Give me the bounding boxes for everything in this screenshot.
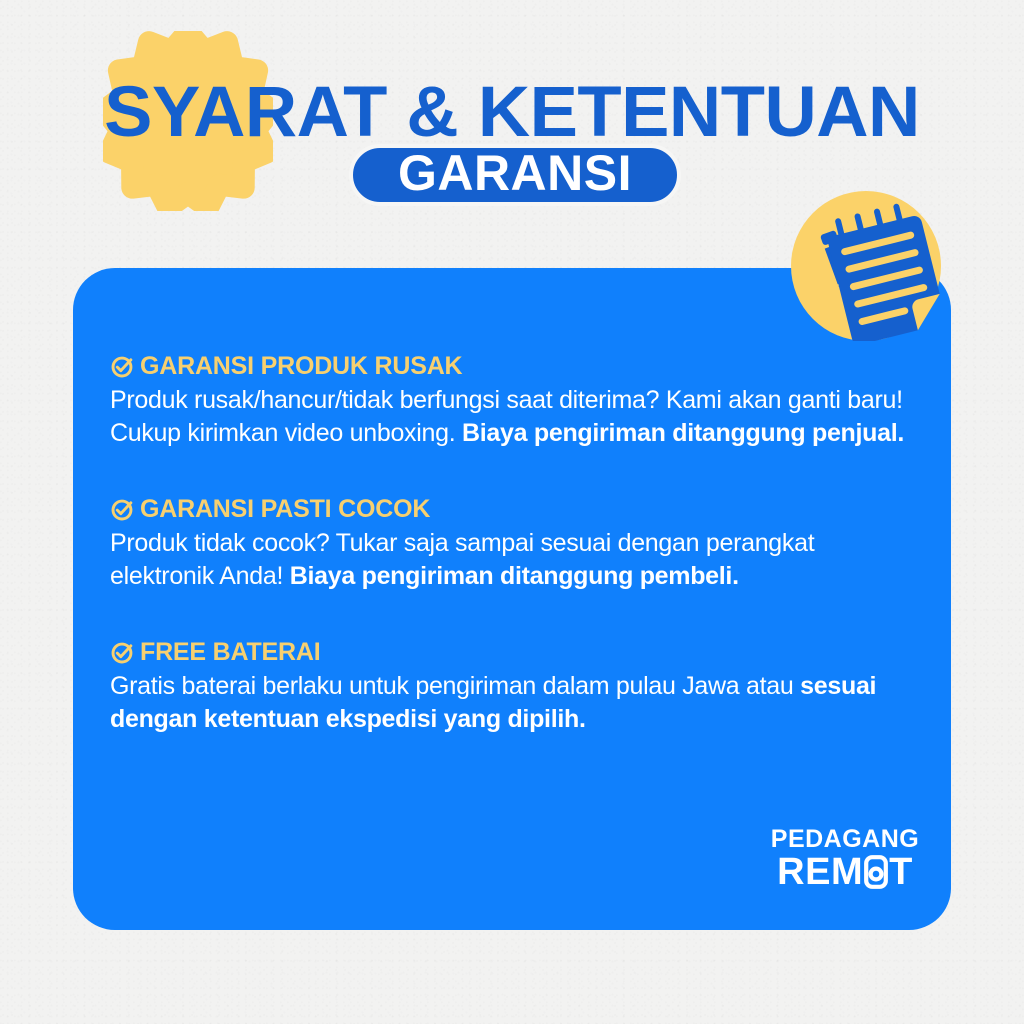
notepad-pencil-icon	[791, 191, 941, 341]
page-title-line1: SYARAT & KETENTUAN	[0, 72, 1024, 153]
warranty-terms-poster: SYARAT & KETENTUAN GARANSI	[0, 0, 1024, 1024]
page-title-line2: GARANSI	[398, 148, 632, 198]
section-heading: GARANSI PASTI COCOK	[110, 497, 920, 522]
check-circle-icon	[110, 497, 135, 522]
section-garansi-produk-rusak: GARANSI PRODUK RUSAK Produk rusak/hancur…	[110, 354, 920, 449]
section-body: Produk tidak cocok? Tukar saja sampai se…	[110, 527, 910, 592]
section-title: GARANSI PASTI COCOK	[140, 497, 430, 522]
section-heading: FREE BATERAI	[110, 640, 920, 665]
terms-sections-list: GARANSI PRODUK RUSAK Produk rusak/hancur…	[110, 354, 920, 735]
section-body: Produk rusak/hancur/tidak berfungsi saat…	[110, 384, 910, 449]
garansi-pill-badge: GARANSI	[349, 144, 681, 206]
section-title: GARANSI PRODUK RUSAK	[140, 354, 462, 379]
check-circle-icon	[110, 640, 135, 665]
section-heading: GARANSI PRODUK RUSAK	[110, 354, 920, 379]
remote-control-icon	[864, 855, 888, 889]
section-body: Gratis baterai berlaku untuk pengiriman …	[110, 670, 910, 735]
logo-text-pedagang: PEDAGANG	[770, 826, 920, 852]
brand-logo: PEDAGANG REM T	[770, 826, 920, 891]
section-title: FREE BATERAI	[140, 640, 320, 665]
logo-text-remot: REM T	[770, 853, 920, 891]
section-free-baterai: FREE BATERAI Gratis baterai berlaku untu…	[110, 640, 920, 735]
check-circle-icon	[110, 354, 135, 379]
logo-rem-text: REM	[777, 853, 863, 891]
section-garansi-pasti-cocok: GARANSI PASTI COCOK Produk tidak cocok? …	[110, 497, 920, 592]
logo-t-text: T	[889, 853, 913, 891]
